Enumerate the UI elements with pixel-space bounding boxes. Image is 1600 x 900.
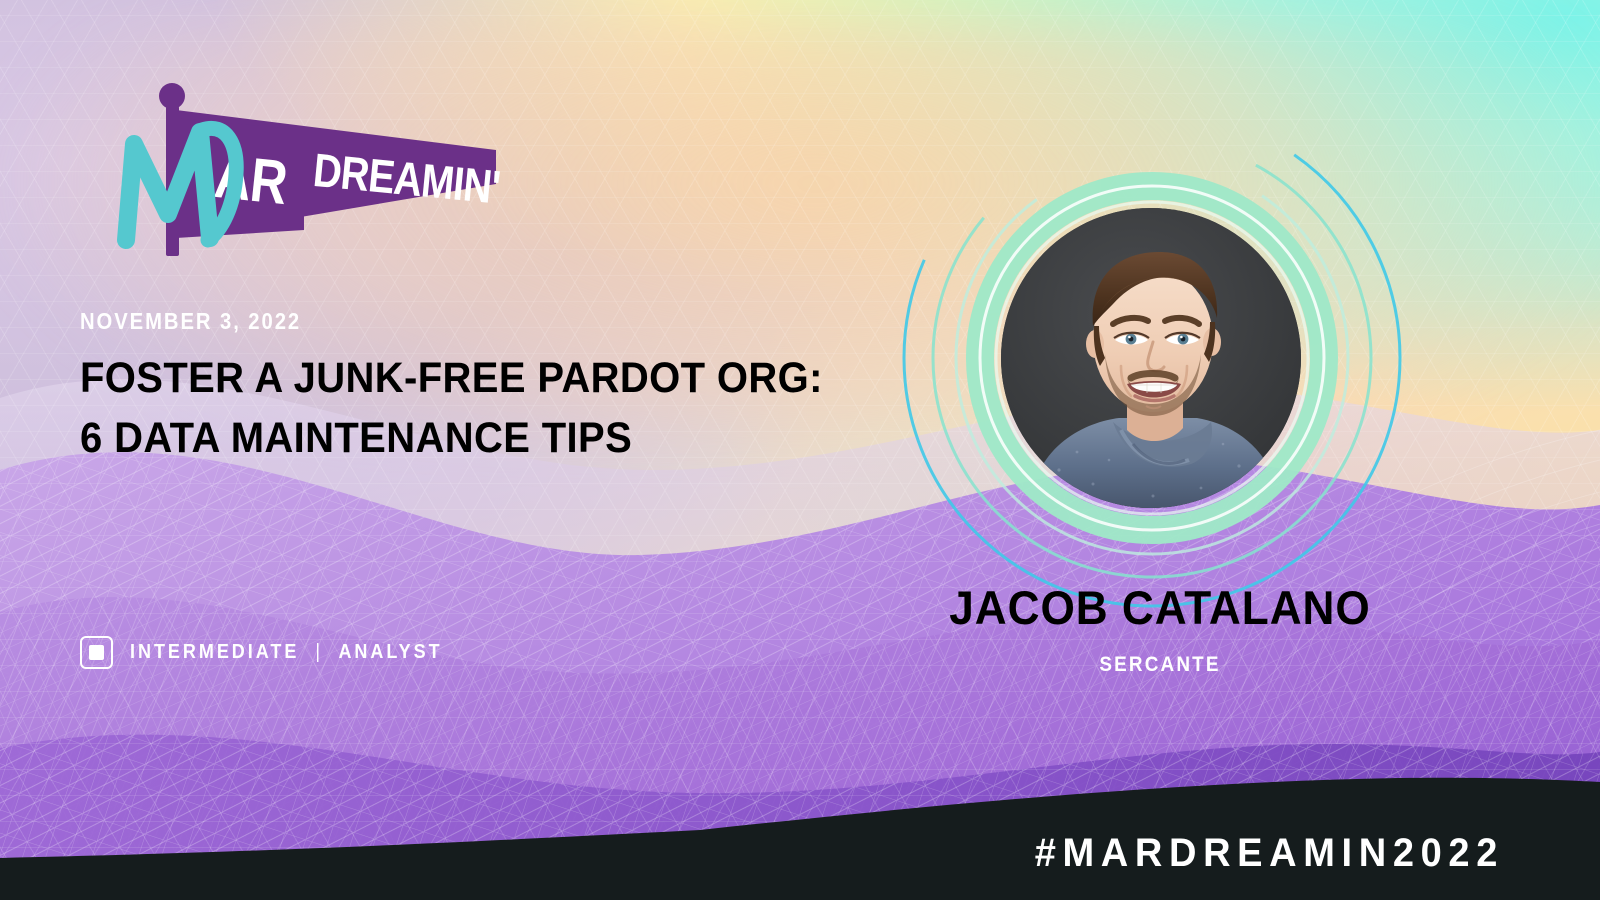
level-separator: | <box>307 641 331 663</box>
speaker-photo <box>1001 208 1301 508</box>
speaker-name: JACOB CATALANO <box>916 580 1405 635</box>
event-hashtag: #MARDREAMIN2022 <box>1035 831 1504 876</box>
square-badge-icon <box>80 636 113 669</box>
footer-band <box>0 760 1600 900</box>
speaker-organization: SERCANTE <box>926 653 1394 677</box>
session-level-row: INTERMEDIATE | ANALYST <box>80 636 477 669</box>
session-promo-card: AR DREAMIN' NOVEMBER 3, 2022 FOSTER A JU… <box>0 0 1600 900</box>
session-title: FOSTER A JUNK-FREE PARDOT ORG: 6 DATA MA… <box>80 348 852 468</box>
speaker-portrait-group <box>900 130 1420 650</box>
mar-dreamin-logo: AR DREAMIN' <box>104 88 504 263</box>
session-date: NOVEMBER 3, 2022 <box>80 308 301 335</box>
session-audience: ANALYST <box>338 641 442 663</box>
session-level: INTERMEDIATE <box>130 641 299 663</box>
session-level-text: INTERMEDIATE | ANALYST <box>130 641 443 664</box>
